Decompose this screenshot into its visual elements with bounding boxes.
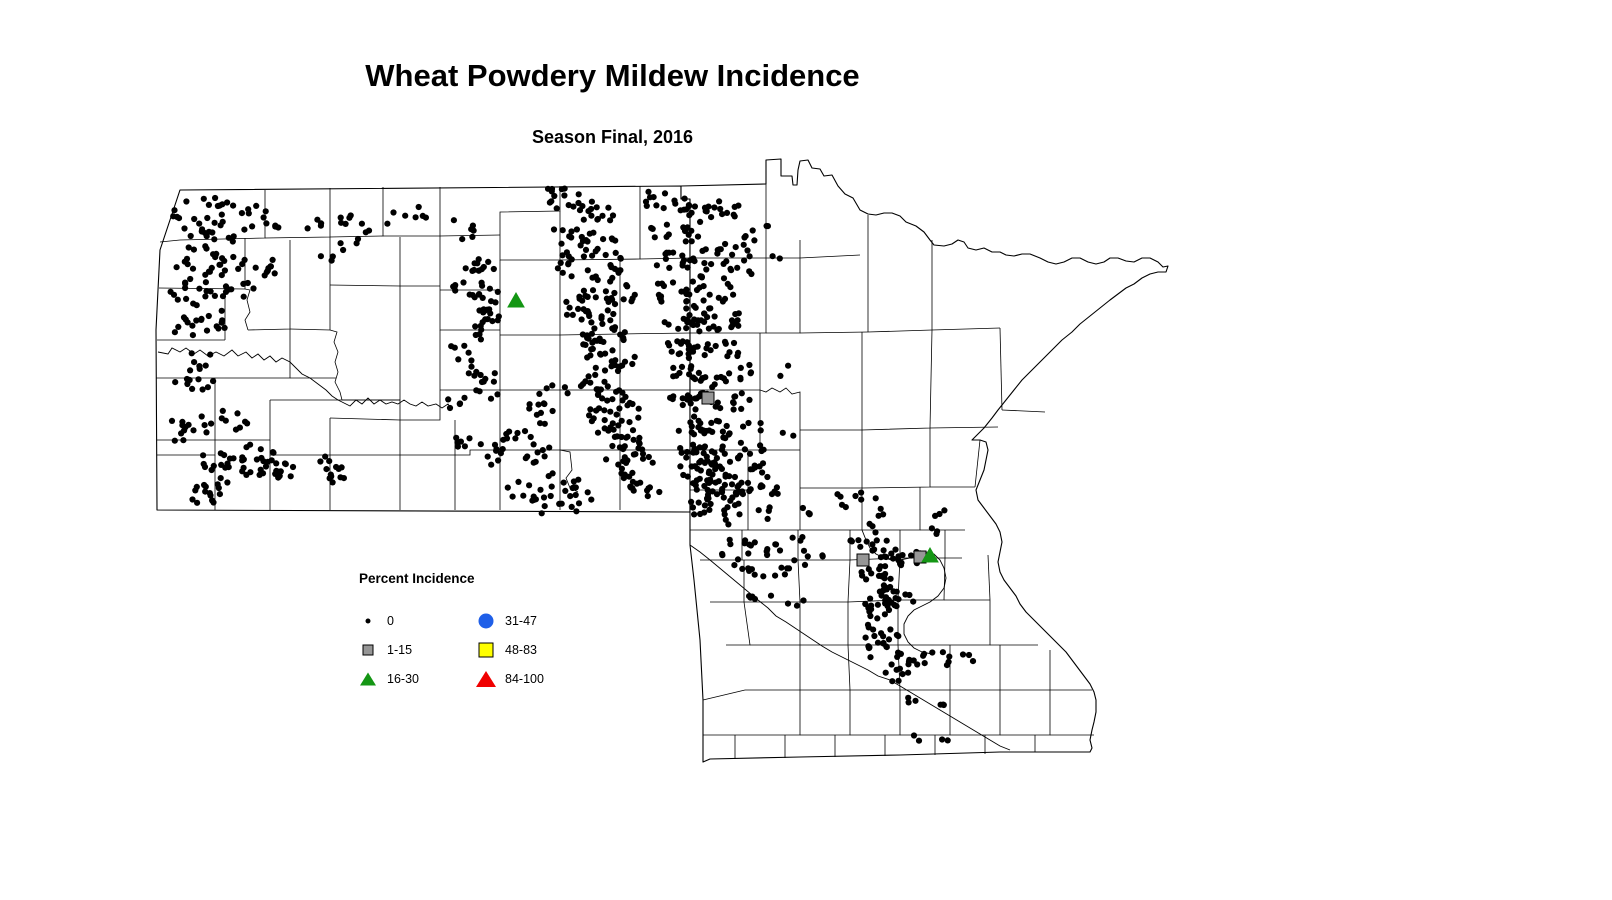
incidence-marker-zero (588, 497, 594, 503)
incidence-marker-zero (683, 305, 689, 311)
incidence-marker-zero (893, 595, 899, 601)
incidence-marker-zero (591, 325, 597, 331)
incidence-marker-zero (514, 430, 520, 436)
incidence-marker-zero (764, 552, 770, 558)
incidence-marker-zero (707, 292, 713, 298)
incidence-marker-zero (880, 587, 886, 593)
incidence-marker-zero (874, 615, 880, 621)
incidence-marker-zero (178, 430, 184, 436)
incidence-marker-zero (703, 266, 709, 272)
incidence-marker-zero (445, 396, 451, 402)
black-dot-icon (355, 611, 381, 631)
incidence-marker-zero (601, 407, 607, 413)
incidence-marker-zero (863, 635, 869, 641)
incidence-marker-zero (195, 376, 201, 382)
incidence-marker-zero (729, 481, 735, 487)
incidence-marker-zero (542, 453, 548, 459)
incidence-marker-zero (317, 458, 323, 464)
incidence-marker-zero (468, 226, 474, 232)
incidence-marker-zero (725, 521, 731, 527)
incidence-marker-zero (484, 307, 490, 313)
incidence-marker-zero (468, 357, 474, 363)
incidence-marker-zero (720, 429, 726, 435)
incidence-marker-zero (888, 576, 894, 582)
incidence-marker-zero (203, 246, 209, 252)
incidence-marker-zero (698, 317, 704, 323)
incidence-marker-zero (728, 324, 734, 330)
incidence-marker-zero (540, 447, 546, 453)
incidence-marker-zero (253, 203, 259, 209)
incidence-marker-zero (602, 367, 608, 373)
incidence-marker-zero (627, 484, 633, 490)
incidence-marker-zero (242, 257, 248, 263)
incidence-marker-zero (680, 402, 686, 408)
incidence-marker-zero (221, 258, 227, 264)
incidence-marker-zero (220, 293, 226, 299)
incidence-marker-zero (869, 548, 875, 554)
incidence-marker-zero (457, 400, 463, 406)
incidence-marker-zero (263, 220, 269, 226)
incidence-marker-zero (708, 501, 714, 507)
incidence-marker-zero (710, 488, 716, 494)
incidence-marker-zero (626, 419, 632, 425)
incidence-marker-zero (492, 370, 498, 376)
incidence-marker-zero (184, 256, 190, 262)
incidence-marker-zero (898, 651, 904, 657)
incidence-marker-zero (699, 375, 705, 381)
incidence-marker-zero (270, 450, 276, 456)
incidence-marker-zero (580, 331, 586, 337)
incidence-marker-zero (686, 203, 692, 209)
incidence-marker-zero (227, 456, 233, 462)
incidence-marker-zero (202, 293, 208, 299)
incidence-marker-zero (759, 483, 765, 489)
incidence-marker-zero (691, 511, 697, 517)
incidence-marker-zero (492, 442, 498, 448)
incidence-marker-zero (694, 487, 700, 493)
incidence-marker-zero (719, 552, 725, 558)
incidence-marker-zero (586, 313, 592, 319)
incidence-marker-zero (944, 662, 950, 668)
incidence-marker-zero (686, 355, 692, 361)
incidence-marker-zero (635, 415, 641, 421)
incidence-marker-zero (731, 562, 737, 568)
incidence-marker-zero (622, 454, 628, 460)
legend-label-31-47: 31-47 (505, 614, 537, 628)
incidence-marker-zero (637, 480, 643, 486)
incidence-marker-zero (573, 508, 579, 514)
incidence-marker-zero (715, 400, 721, 406)
incidence-marker-zero (716, 418, 722, 424)
incidence-marker-zero (908, 552, 914, 558)
legend-item-16-30[interactable]: 16-30 (355, 664, 419, 693)
incidence-marker-zero (729, 252, 735, 258)
incidence-marker-zero (171, 292, 177, 298)
incidence-marker-zero (752, 572, 758, 578)
incidence-marker-zero (567, 493, 573, 499)
incidence-marker-zero (599, 313, 605, 319)
incidence-marker-zero (198, 316, 204, 322)
incidence-marker-zero (583, 247, 589, 253)
incidence-marker-zero (589, 199, 595, 205)
incidence-marker-zero (708, 261, 714, 267)
incidence-marker-zero (721, 275, 727, 281)
incidence-marker-zero (190, 332, 196, 338)
incidence-marker-zero (718, 374, 724, 380)
incidence-marker-zero (720, 443, 726, 449)
incidence-marker-zero (593, 273, 599, 279)
incidence-marker-zero (740, 424, 746, 430)
incidence-marker-zero (570, 312, 576, 318)
incidence-marker-zero (183, 296, 189, 302)
incidence-marker-zero (564, 249, 570, 255)
legend-column-left: 0 1-15 16-30 (355, 606, 419, 693)
incidence-marker-zero (780, 430, 786, 436)
incidence-marker-zero (318, 223, 324, 229)
incidence-marker-zero (669, 349, 675, 355)
incidence-marker-zero (560, 227, 566, 233)
incidence-marker-zero (849, 538, 855, 544)
incidence-marker-zero (939, 736, 945, 742)
incidence-marker-zero (708, 347, 714, 353)
incidence-marker-zero (887, 626, 893, 632)
incidence-marker-zero (881, 547, 887, 553)
incidence-marker-zero (692, 406, 698, 412)
incidence-marker-zero (554, 205, 560, 211)
incidence-marker-zero (551, 226, 557, 232)
incidence-marker-zero (481, 264, 487, 270)
incidence-marker-zero (609, 443, 615, 449)
incidence-marker-zero (451, 217, 457, 223)
incidence-marker-zero (746, 542, 752, 548)
incidence-marker-zero (206, 202, 212, 208)
incidence-marker-zero (257, 472, 263, 478)
incidence-marker-zero (697, 219, 703, 225)
incidence-marker-zero (865, 622, 871, 628)
incidence-marker-zero (217, 491, 223, 497)
incidence-marker-zero (666, 265, 672, 271)
incidence-marker-zero (882, 553, 888, 559)
legend-item-1-15[interactable]: 1-15 (355, 635, 419, 664)
incidence-marker-zero (701, 450, 707, 456)
incidence-marker-zero (940, 649, 946, 655)
incidence-marker-zero (619, 397, 625, 403)
incidence-marker-zero (896, 678, 902, 684)
incidence-marker-zero (704, 314, 710, 320)
incidence-marker-zero (314, 217, 320, 223)
incidence-marker-zero (708, 214, 714, 220)
incidence-marker-zero (686, 312, 692, 318)
incidence-marker-zero (305, 225, 311, 231)
incidence-marker-zero (247, 469, 253, 475)
incidence-marker-zero (613, 389, 619, 395)
incidence-marker-zero (597, 338, 603, 344)
incidence-marker-zero (288, 473, 294, 479)
legend-label-0: 0 (387, 614, 394, 628)
incidence-marker-zero (211, 236, 217, 242)
incidence-marker-zero (402, 213, 408, 219)
incidence-marker-zero (526, 482, 532, 488)
incidence-marker-zero (246, 210, 252, 216)
incidence-marker-zero (701, 260, 707, 266)
incidence-marker-zero (739, 390, 745, 396)
incidence-marker-zero (894, 589, 900, 595)
incidence-marker-zero (196, 221, 202, 227)
incidence-marker-zero (538, 410, 544, 416)
incidence-marker-zero (666, 322, 672, 328)
legend-item-48-83[interactable]: 48-83 (473, 635, 544, 664)
incidence-marker-zero (172, 379, 178, 385)
incidence-marker-zero (711, 204, 717, 210)
incidence-marker-zero (560, 270, 566, 276)
incidence-marker-zero (862, 601, 868, 607)
incidence-marker-zero (747, 451, 753, 457)
incidence-marker-zero (488, 462, 494, 468)
incidence-marker-zero (837, 494, 843, 500)
incidence-marker-zero (270, 257, 276, 263)
incidence-marker-zero (941, 702, 947, 708)
incidence-marker-zero (741, 257, 747, 263)
incidence-marker-zero (726, 349, 732, 355)
incidence-marker-zero (884, 538, 890, 544)
incidence-marker-zero (902, 591, 908, 597)
incidence-marker-zero (745, 420, 751, 426)
incidence-marker-zero (616, 405, 622, 411)
incidence-marker-zero (683, 287, 689, 293)
incidence-marker-zero (603, 252, 609, 258)
incidence-marker-zero (757, 442, 763, 448)
incidence-marker-zero (691, 316, 697, 322)
incidence-marker-zero (224, 479, 230, 485)
incidence-marker-zero (735, 501, 741, 507)
incidence-marker-zero (615, 422, 621, 428)
incidence-marker-zero (582, 342, 588, 348)
incidence-marker-zero (208, 421, 214, 427)
incidence-marker-zero (797, 538, 803, 544)
incidence-marker-zero (593, 294, 599, 300)
incidence-marker-zero (666, 250, 672, 256)
legend-item-84-100[interactable]: 84-100 (473, 664, 544, 693)
incidence-marker-zero (217, 203, 223, 209)
incidence-marker-zero (460, 279, 466, 285)
incidence-marker-zero (612, 266, 618, 272)
green-triangle-icon (355, 669, 381, 689)
incidence-marker-zero (732, 474, 738, 480)
incidence-marker-zero (711, 450, 717, 456)
incidence-marker-zero (359, 221, 365, 227)
incidence-marker-zero (806, 510, 812, 516)
incidence-marker-zero (745, 550, 751, 556)
incidence-marker-zero (469, 234, 475, 240)
incidence-marker-zero (609, 297, 615, 303)
incidence-marker-zero (194, 500, 200, 506)
incidence-marker-zero (338, 240, 344, 246)
incidence-marker-zero (737, 375, 743, 381)
incidence-marker-zero (751, 237, 757, 243)
incidence-marker-zero (569, 504, 575, 510)
incidence-marker-zero (882, 563, 888, 569)
incidence-marker-zero (539, 510, 545, 516)
incidence-marker-zero (708, 479, 714, 485)
incidence-marker-zero (786, 565, 792, 571)
incidence-marker-zero (200, 386, 206, 392)
incidence-marker-zero (218, 462, 224, 468)
incidence-marker-zero (716, 295, 722, 301)
incidence-marker-zero (652, 234, 658, 240)
yellow-square-icon (473, 640, 499, 660)
incidence-marker-zero (674, 338, 680, 344)
incidence-marker-zero (212, 195, 218, 201)
incidence-marker-zero (576, 191, 582, 197)
incidence-marker-zero (559, 501, 565, 507)
incidence-marker-zero (929, 649, 935, 655)
incidence-marker-zero (330, 479, 336, 485)
incidence-marker-zero (843, 504, 849, 510)
incidence-marker-zero (241, 465, 247, 471)
incidence-marker-zero (619, 363, 625, 369)
incidence-marker-zero (929, 525, 935, 531)
incidence-marker-zero (698, 467, 704, 473)
incidence-marker-zero (645, 485, 651, 491)
incidence-marker-zero (487, 286, 493, 292)
incidence-marker-zero (455, 444, 461, 450)
incidence-marker-zero (727, 498, 733, 504)
incidence-marker-zero (191, 359, 197, 365)
incidence-marker-zero (586, 373, 592, 379)
incidence-marker-zero (341, 475, 347, 481)
incidence-marker-zero (205, 384, 211, 390)
incidence-marker-zero (209, 467, 215, 473)
incidence-marker-zero (697, 476, 703, 482)
incidence-marker-zero (725, 281, 731, 287)
incidence-marker-zero (545, 186, 551, 192)
incidence-marker-zero (551, 193, 557, 199)
incidence-marker-zero (214, 323, 220, 329)
incidence-marker-zero (491, 266, 497, 272)
incidence-marker-zero (595, 430, 601, 436)
incidence-marker-zero (190, 301, 196, 307)
incidence-marker-zero (722, 435, 728, 441)
incidence-marker-zero (462, 443, 468, 449)
incidence-marker-zero (588, 346, 594, 352)
incidence-marker-zero (581, 217, 587, 223)
incidence-marker-zero (889, 661, 895, 667)
incidence-marker-zero (732, 393, 738, 399)
incidence-marker-zero (733, 244, 739, 250)
incidence-marker-zero (528, 434, 534, 440)
incidence-marker-zero (577, 296, 583, 302)
incidence-marker-zero (272, 223, 278, 229)
incidence-marker-zero (366, 228, 372, 234)
incidence-marker-zero (478, 441, 484, 447)
legend-item-31-47[interactable]: 31-47 (473, 606, 544, 635)
incidence-marker-zero (736, 310, 742, 316)
incidence-marker-zero (594, 204, 600, 210)
incidence-marker-zero (187, 367, 193, 373)
incidence-marker-zero (218, 475, 224, 481)
incidence-marker-zero (690, 349, 696, 355)
incidence-marker-zero (666, 231, 672, 237)
incidence-marker-zero (644, 203, 650, 209)
incidence-marker-zero (610, 420, 616, 426)
incidence-marker-zero (544, 385, 550, 391)
gray-square-icon (355, 640, 381, 660)
legend-item-0[interactable]: 0 (355, 606, 419, 635)
incidence-marker-zero (697, 444, 703, 450)
incidence-marker-zero (242, 419, 248, 425)
map-canvas (0, 0, 1612, 900)
incidence-marker-zero (452, 345, 458, 351)
incidence-marker-zero (724, 423, 730, 429)
incidence-marker-zero (609, 347, 615, 353)
incidence-marker-zero (466, 435, 472, 441)
incidence-marker-zero (628, 298, 634, 304)
red-triangle-icon (473, 669, 499, 689)
incidence-marker-zero (181, 225, 187, 231)
incidence-marker-zero (855, 537, 861, 543)
incidence-marker-zero (736, 482, 742, 488)
incidence-marker-zero (869, 541, 875, 547)
incidence-marker-zero (587, 406, 593, 412)
incidence-marker-zero (679, 253, 685, 259)
incidence-marker-zero (574, 226, 580, 232)
legend-column-right: 31-47 48-83 84-100 (473, 606, 544, 693)
incidence-marker-zero (617, 444, 623, 450)
incidence-marker-zero (722, 482, 728, 488)
incidence-marker-zero (172, 329, 178, 335)
incidence-marker-zero (219, 308, 225, 314)
incidence-marker-zero (586, 336, 592, 342)
incidence-marker-zero (645, 493, 651, 499)
incidence-marker-zero (466, 350, 472, 356)
incidence-marker-zero (461, 395, 467, 401)
incidence-marker-zero (800, 505, 806, 511)
incidence-marker-zero (338, 220, 344, 226)
incidence-marker-zero (199, 228, 205, 234)
incidence-marker-zero (675, 326, 681, 332)
incidence-marker-zero (626, 474, 632, 480)
incidence-marker-zero (905, 670, 911, 676)
incidence-marker-zero (746, 397, 752, 403)
incidence-marker-zero (760, 460, 766, 466)
incidence-marker-zero (558, 260, 564, 266)
incidence-marker-zero (548, 198, 554, 204)
incidence-marker-zero (880, 640, 886, 646)
incidence-marker-zero (183, 424, 189, 430)
incidence-marker-zero (765, 516, 771, 522)
incidence-marker-zero (348, 212, 354, 218)
incidence-marker-zero (722, 241, 728, 247)
incidence-marker-zero (605, 383, 611, 389)
incidence-marker-zero (589, 253, 595, 259)
incidence-marker-zero (463, 265, 469, 271)
incidence-marker-zero (587, 352, 593, 358)
incidence-marker-zero (591, 415, 597, 421)
incidence-marker-zero (682, 196, 688, 202)
incidence-marker-zero (485, 316, 491, 322)
incidence-marker-zero (239, 454, 245, 460)
state-outlines-group (156, 159, 1168, 762)
incidence-marker-zero (222, 325, 228, 331)
incidence-marker-zero (713, 343, 719, 349)
incidence-marker-zero (656, 292, 662, 298)
incidence-marker-zero (595, 216, 601, 222)
incidence-marker-zero (695, 344, 701, 350)
incidence-marker-zero (912, 698, 918, 704)
incidence-marker-zero (743, 233, 749, 239)
incidence-marker-zero (234, 410, 240, 416)
incidence-marker-zero (696, 500, 702, 506)
